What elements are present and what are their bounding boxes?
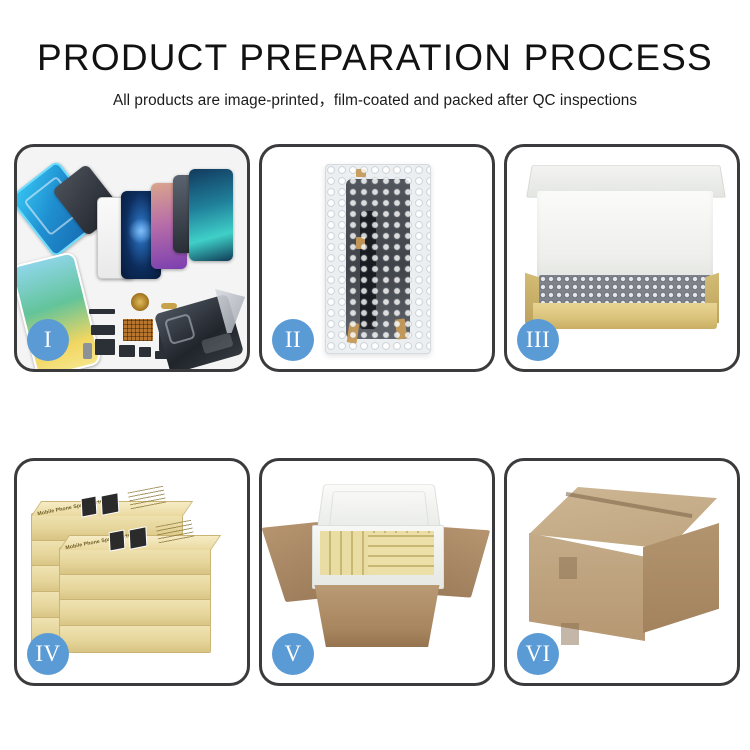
packed-boxes-stack-graphic [368, 533, 434, 575]
bubble-texture-overlay [326, 165, 430, 353]
bubble-wrap-bag-graphic [325, 164, 431, 354]
step-badge-6: VI [517, 633, 559, 675]
vibrator-part [139, 347, 151, 357]
camera-module-part [91, 325, 115, 335]
process-step-grid: I II III [14, 144, 736, 686]
button-part [119, 345, 135, 357]
flex-strip-part [89, 309, 115, 314]
step-badge-5: V [272, 633, 314, 675]
process-step-panel-3[interactable]: III [504, 144, 740, 372]
box-window-1 [81, 495, 98, 517]
bubble-layer-graphic [539, 275, 711, 305]
logic-chip-part [123, 319, 153, 341]
page-header: PRODUCT PREPARATION PROCESS All products… [0, 0, 750, 110]
phone-teal-graphic [189, 169, 233, 261]
box-window-4 [129, 526, 148, 550]
step-badge-1: I [27, 319, 69, 361]
step-badge-3: III [517, 319, 559, 361]
flex-cable-part [95, 339, 115, 355]
box-stack-graphic: Mobile Phone Spare Parts Mobile Phone Sp… [31, 483, 237, 661]
process-step-panel-1[interactable]: I [14, 144, 250, 372]
carton-tape-upper-graphic [559, 557, 577, 579]
page-subtitle: All products are image-printed，film-coat… [0, 88, 750, 110]
kraft-box-front-graphic [533, 303, 717, 329]
carton-tape-lower-graphic [561, 623, 579, 645]
step-badge-4: IV [27, 633, 69, 675]
stacked-box [59, 599, 211, 627]
box-window-2 [101, 492, 120, 516]
sim-tray-part [83, 343, 92, 359]
page-title: PRODUCT PREPARATION PROCESS [0, 38, 750, 78]
process-step-panel-6[interactable]: VI [504, 458, 740, 686]
carton-front-panel-graphic [306, 585, 448, 647]
stacked-box-top-front [59, 547, 211, 575]
foam-sheet-graphic [537, 191, 713, 285]
box-window-3 [109, 529, 126, 551]
process-step-panel-4[interactable]: Mobile Phone Spare Parts Mobile Phone Sp… [14, 458, 250, 686]
stacked-box [59, 625, 211, 653]
process-step-panel-2[interactable]: II [259, 144, 495, 372]
stacked-box [59, 573, 211, 601]
speaker-coil-part [131, 293, 149, 311]
process-step-panel-5[interactable]: V [259, 458, 495, 686]
step-badge-2: II [272, 319, 314, 361]
carton-left-face-graphic [529, 533, 645, 641]
